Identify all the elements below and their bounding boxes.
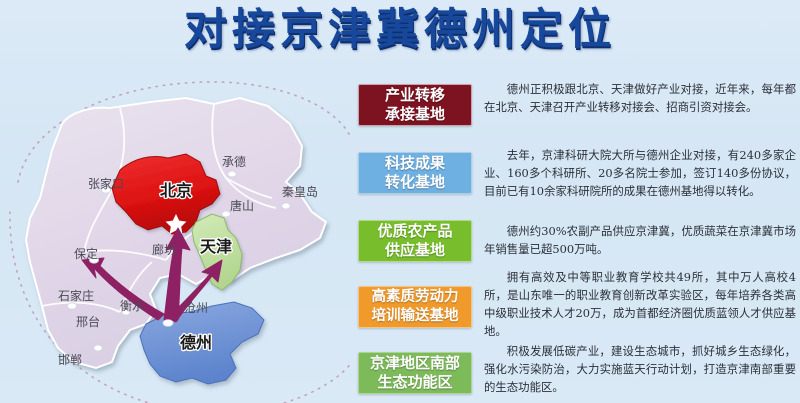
city-label-cangzhou: 沧州 (184, 300, 208, 315)
city-label-tianjin: 天津 (200, 237, 232, 256)
city-label-tangshan: 唐山 (230, 198, 254, 213)
city-label-zhangjiakou: 张家口 (88, 176, 124, 191)
label-tech-transformation[interactable]: 科技成果 转化基地 (358, 152, 472, 194)
city-label-chengde: 承德 (222, 154, 246, 169)
paragraph-agriculture-supply: 德州约30%农副产品供应京津冀，优质蔬菜在京津冀市场年销售量已超500万吨。 (484, 222, 796, 258)
label-tech-transformation-line1: 科技成果 (385, 154, 445, 173)
label-agriculture-supply-line1: 优质农产品 (377, 222, 452, 241)
city-label-hengshui: 衡水 (120, 299, 144, 313)
label-labor-training-line2: 培训输送基地 (372, 307, 459, 326)
label-labor-training[interactable]: 高素质劳动力 培训输送基地 (358, 286, 472, 328)
label-labor-training-line1: 高素质劳动力 (372, 288, 459, 307)
page-title: 对接京津冀德州定位 (0, 8, 800, 53)
paragraph-industry-transfer: 德州正积极跟北京、天津做好产业对接，近年来，每年都在北京、天津召开产业转移对接会… (484, 80, 796, 116)
city-label-beijing: 北京 (160, 181, 192, 200)
city-label-qinhuangdao: 秦皇岛 (282, 184, 318, 199)
paragraph-tech-transformation: 去年，京津科研大院大所与德州企业对接，有240多家企业、160多个科研所、20多… (484, 146, 796, 200)
label-agriculture-supply[interactable]: 优质农产品 供应基地 (358, 220, 472, 262)
label-industry-transfer[interactable]: 产业转移 承接基地 (358, 84, 472, 126)
label-tech-transformation-line2: 转化基地 (385, 173, 445, 192)
city-label-handan: 邯郸 (58, 352, 82, 367)
label-industry-transfer-line2: 承接基地 (385, 105, 445, 124)
city-label-langfang: 廊坊 (152, 242, 176, 257)
label-ecological-zone-line1: 京津地区南部 (370, 354, 460, 373)
city-label-baoding: 保定 (74, 246, 98, 261)
label-ecological-zone[interactable]: 京津地区南部 生态功能区 (358, 352, 472, 394)
city-label-shijiazhuang: 石家庄 (58, 288, 94, 303)
city-label-dezhou: 德州 (180, 333, 212, 352)
label-industry-transfer-line1: 产业转移 (385, 86, 445, 105)
paragraph-ecological-zone: 积极发展低碳产业，建设生态城市，抓好城乡生态绿化，强化水污染防治，大力实施蓝天行… (484, 342, 796, 396)
infographic-canvas: 对接京津冀德州定位 (0, 0, 800, 403)
paragraph-labor-training: 拥有高效及中等职业教育学校共49所，其中万人高校4所，是山东唯一的职业教育创新改… (484, 268, 796, 340)
label-agriculture-supply-line2: 供应基地 (385, 241, 445, 260)
label-ecological-zone-line2: 生态功能区 (377, 373, 452, 392)
city-label-xingtai: 邢台 (76, 314, 100, 329)
map-illustration: 张家口 承德 秦皇岛 唐山 廊坊 保定 沧州 石家庄 衡水 邢台 邯郸 北京 天… (0, 62, 350, 403)
